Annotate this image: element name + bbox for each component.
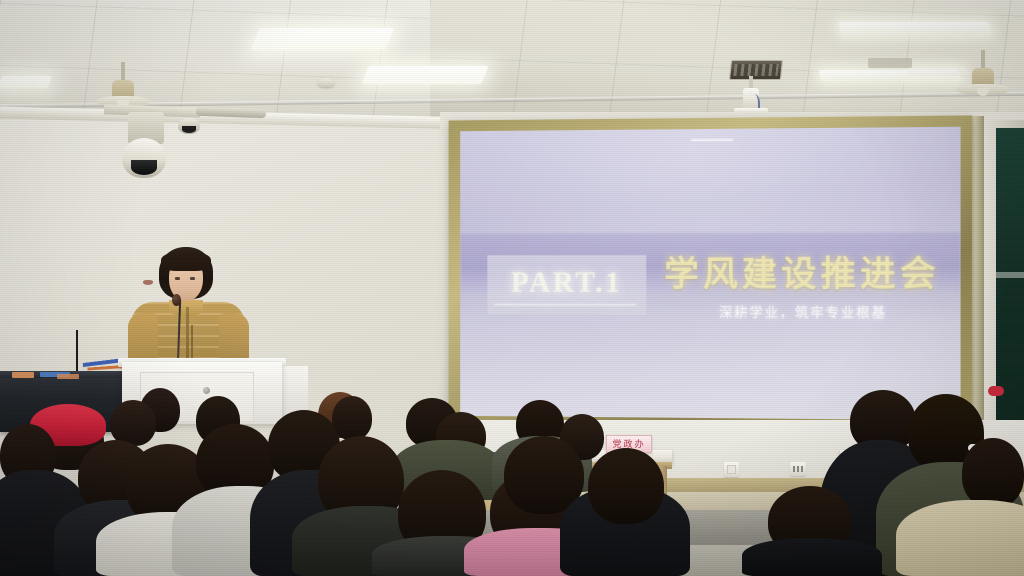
audience-head bbox=[588, 448, 664, 524]
audience-body bbox=[742, 538, 882, 576]
audience-body bbox=[896, 500, 1024, 576]
audience-head bbox=[962, 438, 1024, 508]
lecture-hall-photo: PART.1 学风建设推进会 深耕学业，筑牢专业根基 党政办 刘 峰 bbox=[0, 0, 1024, 576]
red-hair-tie bbox=[988, 386, 1004, 396]
audience bbox=[0, 0, 1024, 576]
